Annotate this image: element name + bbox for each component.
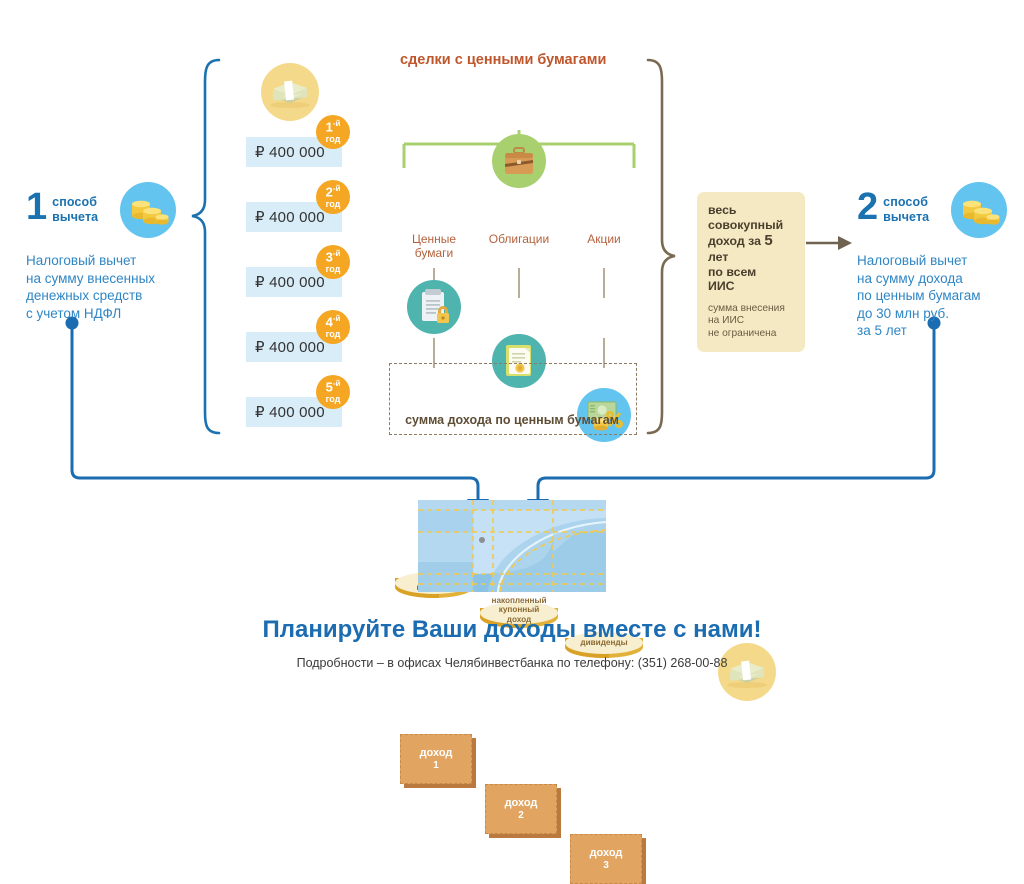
cylinder-label-line-2: купонный [492,605,547,614]
method-1-number: 1 [26,188,47,226]
contribution-row: ₽ 400 000 2-й год [246,202,342,232]
method-2-desc-line-2: на сумму дохода [857,270,1007,288]
contribution-row: ₽ 400 000 1-й год [246,137,342,167]
method-2-desc-line-3: по ценным бумагам [857,287,1007,305]
contribution-amount: ₽ 400 000 [255,273,325,291]
info-strong-line-1: весь [708,203,795,218]
year-badge-word: год [326,265,341,274]
node-label-stocks: Акции [564,232,644,246]
info-strong-line-2: совокупный [708,218,795,233]
method-1-description: Налоговый вычет на сумму внесенных денеж… [26,252,176,322]
contribution-row: ₽ 400 000 3-й год [246,267,342,297]
info-card-small: сумма внесения на ИИС не ограничена [708,303,795,340]
bank-building-illustration [418,500,606,592]
method-1-sub-line1: способ [52,195,98,210]
method-1-desc-line-1: Налоговый вычет [26,252,176,270]
income-box-number: 3 [603,860,609,872]
method-2-header: 2 способ вычета [857,188,1007,238]
method-1-sub-line2: вычета [52,210,98,225]
year-badge-number: 1-й [326,120,341,133]
year-badge-word: год [326,135,341,144]
method-1-desc-line-4: с учетом НДФЛ [26,305,176,323]
year-badge: 1-й год [316,115,350,149]
income-group-caption: сумма дохода по ценным бумагам [389,413,635,427]
coins-icon [951,182,1007,238]
year-badge-number: 4-й [326,315,341,328]
banknote-stack-icon [718,643,776,701]
method-2-sub-line1: способ [883,195,929,210]
node-label-line-2: бумаги [394,246,474,260]
year-badge-number: 3-й [326,250,341,263]
income-box-label: доход [590,847,623,860]
banknote-stack-icon [261,63,319,121]
left-brace [192,60,219,433]
node-label-line-1: Ценные [394,232,474,246]
year-badge: 4-й год [316,310,350,344]
node-label-line-1: Облигации [479,232,559,246]
income-box-2: доход 2 [485,784,557,834]
year-badge-number: 2-й [326,185,341,198]
info-small-line-2: на ИИС [708,315,795,327]
contribution-amount: ₽ 400 000 [255,338,325,356]
year-badge-word: год [326,200,341,209]
coins-icon [120,182,176,238]
year-badge: 2-й год [316,180,350,214]
infographic-canvas: 1 способ вычета [0,0,1024,724]
contribution-rows: ₽ 400 000 1-й год ₽ 400 000 2-й год ₽ 40… [246,137,342,427]
year-badge: 3-й год [316,245,350,279]
info-strong-line-3: доход за 5 лет [708,232,795,264]
info-strong-line-4: по всем [708,265,795,280]
node-label-bonds: Облигации [479,232,559,246]
income-box-number: 1 [433,760,439,772]
contribution-amount: ₽ 400 000 [255,403,325,421]
method-1-desc-line-3: денежных средств [26,287,176,305]
node-label-securities: Ценные бумаги [394,232,474,261]
year-badge: 5-й год [316,375,350,409]
method-2-sub-line2: вычета [883,210,929,225]
footer-subtitle: Подробности – в офисах Челябинвестбанка … [0,656,1024,670]
cylinder-label-line-1: накопленный [492,596,547,605]
contribution-amount: ₽ 400 000 [255,143,325,161]
contribution-amount: ₽ 400 000 [255,208,325,226]
income-box-label: доход [505,797,538,810]
right-brace [648,60,675,433]
income-box-3: доход 3 [570,834,642,884]
method-2-number: 2 [857,188,878,226]
method-2-block: 2 способ вычета [857,188,1007,340]
briefcase-icon [492,134,546,188]
income-box-1: доход 1 [400,734,472,784]
info-small-line-3: не ограничена [708,328,795,340]
method-1-header: 1 способ вычета [26,188,176,238]
year-badge-word: год [326,330,341,339]
method-2-description: Налоговый вычет на сумму дохода по ценны… [857,252,1007,340]
year-badge-word: год [326,395,341,404]
footer-title: Планируйте Ваши доходы вместе с нами! [0,616,1024,644]
info-to-method2-arrowhead [838,236,852,250]
clipboard-lock-icon [407,280,461,334]
tree-title: сделки с ценными бумагами [400,52,606,68]
method-1-block: 1 способ вычета [26,188,176,322]
info-small-line-1: сумма внесения [708,303,795,315]
node-label-line-1: Акции [564,232,644,246]
income-box-number: 2 [518,810,524,822]
contribution-row: ₽ 400 000 4-й год [246,332,342,362]
method-2-desc-line-5: за 5 лет [857,322,1007,340]
info-card: весь совокупный доход за 5 лет по всем И… [697,192,805,352]
info-strong-line-5: ИИС [708,279,795,294]
contribution-row: ₽ 400 000 5-й год [246,397,342,427]
method-2-desc-line-4: до 30 млн руб. [857,305,1007,323]
year-badge-number: 5-й [326,380,341,393]
method-1-desc-line-2: на сумму внесенных [26,270,176,288]
income-box-label: доход [420,747,453,760]
info-card-strong: весь совокупный доход за 5 лет по всем И… [708,203,795,294]
method-2-desc-line-1: Налоговый вычет [857,252,1007,270]
